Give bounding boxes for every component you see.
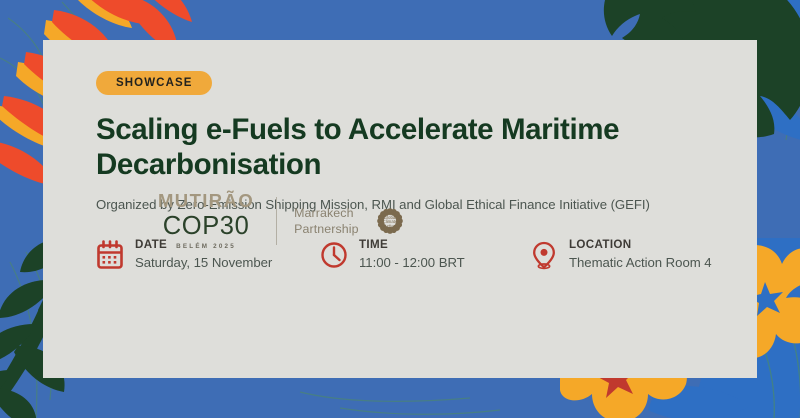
calendar-icon [96,240,124,270]
cop30-logo: MUTIRÃO COP30 BELÉM 2025 [158,192,254,250]
page-title: Scaling e-Fuels to Accelerate Maritime D… [96,113,696,182]
event-card: SHOWCASE Scaling e-Fuels to Accelerate M… [43,40,757,378]
logo-divider [276,197,277,245]
global-climate-action-emblem: Global Climate Action [370,201,410,241]
marrakech-line-2: Partnership [294,221,358,237]
marrakech-partnership-logo: Marrakech Partnership Global Climate Act… [294,201,409,241]
event-date-value: Saturday, 15 November [135,255,272,272]
event-time-value: 11:00 - 12:00 BRT [359,255,465,272]
event-poster: SHOWCASE Scaling e-Fuels to Accelerate M… [0,0,800,418]
showcase-badge: SHOWCASE [96,71,212,95]
cop30-wordmark: COP30 [158,212,254,240]
gca-text-line-3: Action [383,223,396,228]
marrakech-wordmark: Marrakech Partnership [294,205,358,238]
event-location-item: LOCATION Thematic Action Room 4 [530,238,712,272]
event-location-label: LOCATION [569,238,712,253]
belem-year-text: BELÉM 2025 [158,243,254,250]
mutirao-wordmark: MUTIRÃO [158,192,254,211]
event-location-value: Thematic Action Room 4 [569,255,712,272]
location-pin-icon [530,240,558,270]
logo-strip: MUTIRÃO COP30 BELÉM 2025 Marrakech Partn… [158,192,410,250]
marrakech-line-1: Marrakech [294,205,358,221]
